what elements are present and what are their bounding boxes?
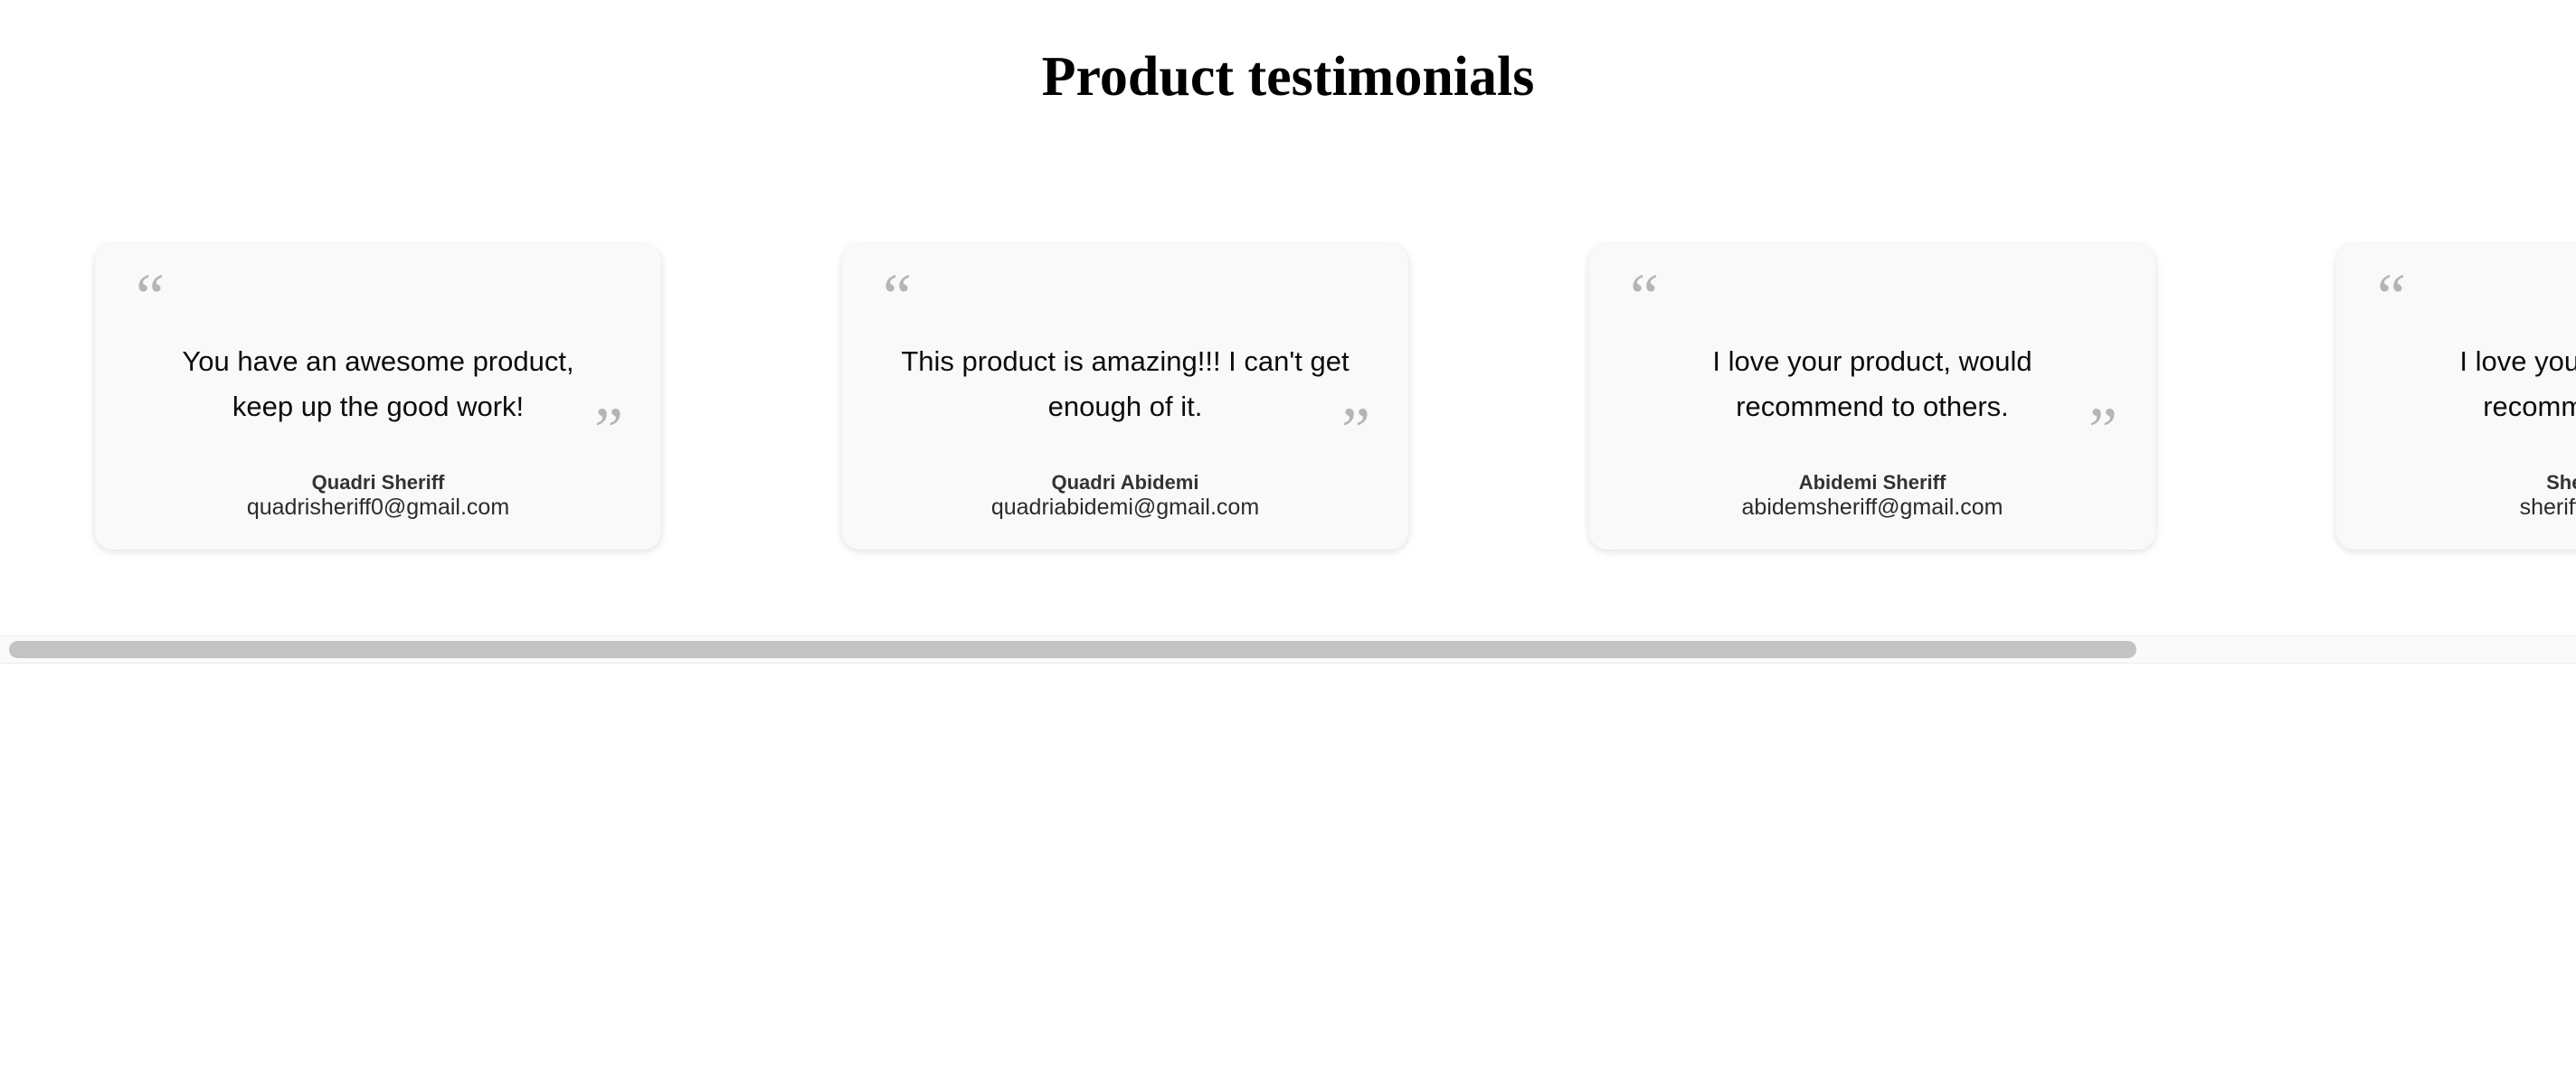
testimonial-card[interactable]: “ I love your product, would recommend t… xyxy=(1589,244,2155,550)
author-email: sheriffo@gmail.com xyxy=(2363,495,2576,522)
testimonial-card[interactable]: “ I love your product, would recommend t… xyxy=(2336,244,2576,550)
testimonial-quote: This product is amazing!!! I can't get e… xyxy=(876,339,1374,429)
quote-open-icon: “ xyxy=(1630,264,1659,329)
testimonial-quote: You have an awesome product, keep up the… xyxy=(129,339,627,429)
author-email: quadriabidemi@gmail.com xyxy=(869,495,1381,522)
horizontal-scrollbar[interactable] xyxy=(0,636,2576,664)
author-name: Sheriff Abidemi xyxy=(2363,471,2576,495)
quote-open-icon: “ xyxy=(136,264,165,329)
testimonial-body: I love your product, would recommend to … xyxy=(2371,339,2576,429)
quote-close-icon: ” xyxy=(594,398,623,463)
author-name: Quadri Abidemi xyxy=(869,471,1381,495)
author-name: Quadri Sheriff xyxy=(122,471,634,495)
testimonial-card[interactable]: “ This product is amazing!!! I can't get… xyxy=(842,244,1408,550)
testimonial-card[interactable]: “ You have an awesome product, keep up t… xyxy=(95,244,661,550)
carousel-track[interactable]: “ You have an awesome product, keep up t… xyxy=(95,226,2576,550)
testimonial-body: You have an awesome product, keep up the… xyxy=(129,339,627,429)
testimonial-quote: I love your product, would recommend to … xyxy=(1624,339,2121,429)
testimonial-author: Sheriff Abidemi sheriffo@gmail.com xyxy=(2363,471,2576,521)
testimonials-carousel: “ You have an awesome product, keep up t… xyxy=(0,226,2576,664)
page-title: Product testimonials xyxy=(0,43,2576,110)
quote-close-icon: ” xyxy=(1341,398,1370,463)
quote-open-icon: “ xyxy=(883,264,912,329)
author-email: abidemsheriff@gmail.com xyxy=(1616,495,2128,522)
quote-close-icon: ” xyxy=(2088,398,2117,463)
testimonial-author: Abidemi Sheriff abidemsheriff@gmail.com xyxy=(1616,471,2128,521)
testimonial-body: I love your product, would recommend to … xyxy=(1624,339,2121,429)
author-name: Abidemi Sheriff xyxy=(1616,471,2128,495)
author-email: quadrisheriff0@gmail.com xyxy=(122,495,634,522)
scrollbar-thumb[interactable] xyxy=(9,641,2136,658)
testimonial-author: Quadri Abidemi quadriabidemi@gmail.com xyxy=(869,471,1381,521)
testimonial-body: This product is amazing!!! I can't get e… xyxy=(876,339,1374,429)
testimonial-quote: I love your product, would recommend to … xyxy=(2371,339,2576,429)
quote-open-icon: “ xyxy=(2377,264,2406,329)
testimonial-author: Quadri Sheriff quadrisheriff0@gmail.com xyxy=(122,471,634,521)
